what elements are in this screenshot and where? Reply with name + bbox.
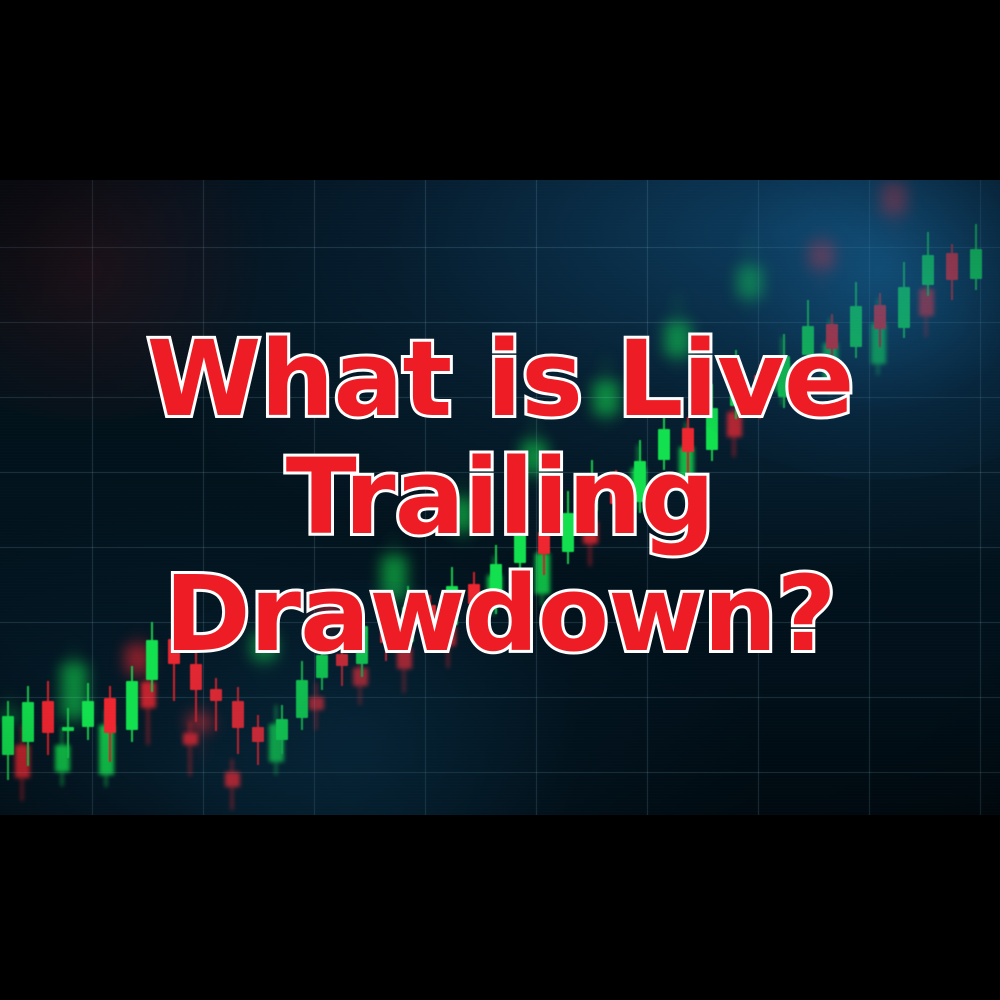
letterbox-bar-top <box>0 0 1000 180</box>
candlestick-chart-background <box>0 180 1000 815</box>
letterbox-bar-bottom <box>0 815 1000 1000</box>
vignette-overlay <box>0 180 1000 815</box>
thumbnail-image: What is Live Trailing Drawdown? <box>0 0 1000 1000</box>
